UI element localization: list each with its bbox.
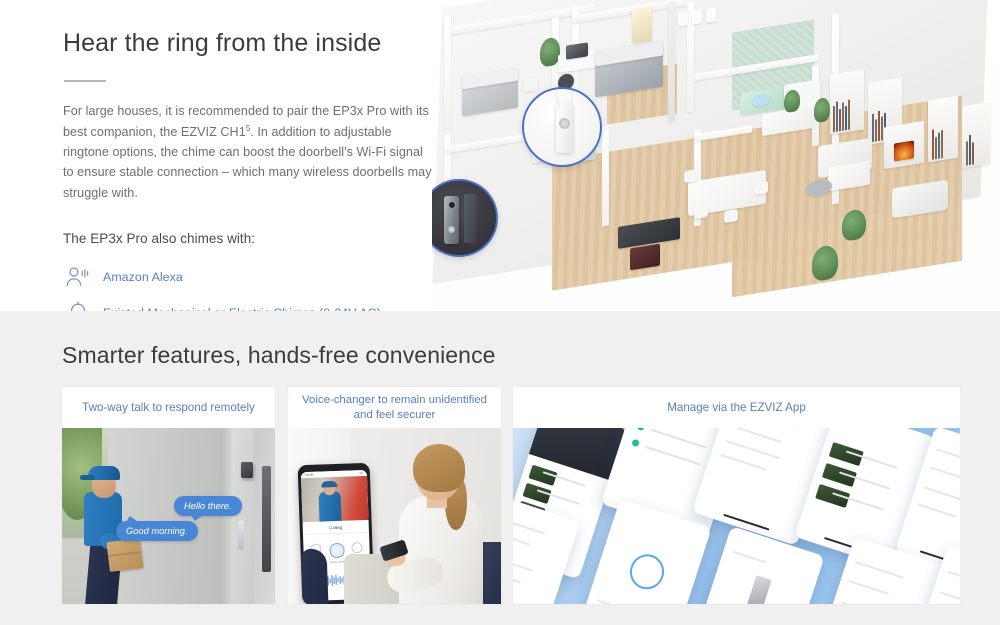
chime-speaker-grill: [559, 118, 570, 129]
woman-figure: [383, 428, 499, 604]
doorbell-mount-panel: [464, 194, 477, 243]
doorbell-camera-lens: [448, 201, 456, 209]
woman-with-phone-photo: 10:30 ▪▪▪ Calling: [288, 428, 501, 604]
chime-copy-column: Hear the ring from the inside For large …: [63, 28, 433, 311]
card-title: Voice-changer to remain unidentified and…: [288, 387, 501, 428]
chime-compat-list: Amazon Alexa Existed Mechanical or Elect…: [63, 260, 433, 311]
wall-art: [706, 7, 716, 23]
parcel-box: [106, 538, 143, 572]
card-title: Manage via the EZVIZ App: [513, 387, 960, 428]
app-screens-scene: [513, 428, 960, 604]
chime-list-heading: The EP3x Pro also chimes with:: [63, 231, 433, 246]
wifi-chime-device: [556, 103, 573, 153]
wall-seg: [602, 125, 609, 226]
video-doorbell-device: [444, 196, 459, 244]
visitor-cap: [321, 481, 337, 488]
door-left-panel: [232, 428, 254, 604]
control-voice-tone[interactable]: Voice Tone: [329, 543, 345, 565]
visitor-body: [319, 491, 342, 522]
doorbell-video-feed: [301, 476, 368, 522]
wall-art: [678, 11, 688, 27]
wall-art: [692, 9, 702, 25]
bubble-morning: Good morning.: [116, 521, 198, 541]
bookshelf: [830, 69, 864, 134]
feature-card-grid: Two-way talk to respond remotely: [62, 387, 960, 604]
section-title: Smarter features, hands-free convenience: [62, 342, 496, 369]
dining-chair: [684, 169, 698, 183]
vanity-mirror: [632, 6, 652, 43]
isometric-floorplan-illustration: [432, 0, 1000, 311]
door-side-strip: [262, 466, 271, 572]
door-scene: Hello there. Good morning.: [62, 428, 275, 604]
bookshelf: [928, 96, 958, 163]
woman-hair: [413, 444, 465, 492]
list-item: Amazon Alexa: [63, 260, 433, 294]
dining-chair: [694, 205, 708, 219]
feature-card-ezviz-app[interactable]: Manage via the EZVIZ App: [513, 387, 960, 604]
status-icons: ▪▪▪: [359, 471, 363, 475]
wall-seg: [444, 15, 451, 136]
dining-chair: [754, 181, 768, 195]
wall-seg: [668, 1, 675, 122]
door-frame: [220, 428, 232, 604]
courier-at-door-photo: Hello there. Good morning.: [62, 428, 275, 604]
living-room-scene: 10:30 ▪▪▪ Calling: [288, 428, 501, 604]
ezviz-app-screens-photo: [513, 428, 960, 604]
product-feature-page: Hear the ring from the inside For large …: [0, 0, 1000, 625]
chime-section: Hear the ring from the inside For large …: [0, 0, 1000, 311]
feature-card-voice-changer[interactable]: Voice-changer to remain unidentified and…: [288, 387, 501, 604]
status-time: 10:30: [305, 473, 314, 477]
doorbell-button: [448, 226, 455, 233]
list-item: Existed Mechanical or Electric Chimes (8…: [63, 296, 433, 311]
title-divider: [64, 80, 106, 82]
door-handle: [238, 520, 244, 550]
list-item-label: Amazon Alexa: [103, 270, 183, 284]
speaker-icon: [351, 542, 362, 553]
holding-hand: [301, 548, 329, 604]
card-title: Two-way talk to respond remotely: [62, 387, 275, 428]
control-label: Voice Tone: [330, 560, 345, 565]
bubble-hello: Hello there.: [174, 496, 242, 516]
nightstand-left: [524, 77, 538, 92]
fireplace: [894, 140, 914, 161]
dining-chair: [724, 209, 738, 223]
bell-icon: [63, 298, 93, 311]
doorbell-device: [241, 462, 253, 478]
wifi-chime-callout: [522, 87, 602, 167]
voice-tone-icon: [329, 543, 345, 559]
person-voice-icon: [63, 262, 93, 292]
page-title: Hear the ring from the inside: [63, 28, 433, 59]
feature-card-two-way-talk[interactable]: Two-way talk to respond remotely: [62, 387, 275, 604]
courier-cap: [88, 466, 120, 480]
bookshelf: [962, 102, 990, 168]
features-section: Smarter features, hands-free convenience…: [0, 311, 1000, 625]
body-paragraph: For large houses, it is recommended to p…: [63, 101, 433, 203]
